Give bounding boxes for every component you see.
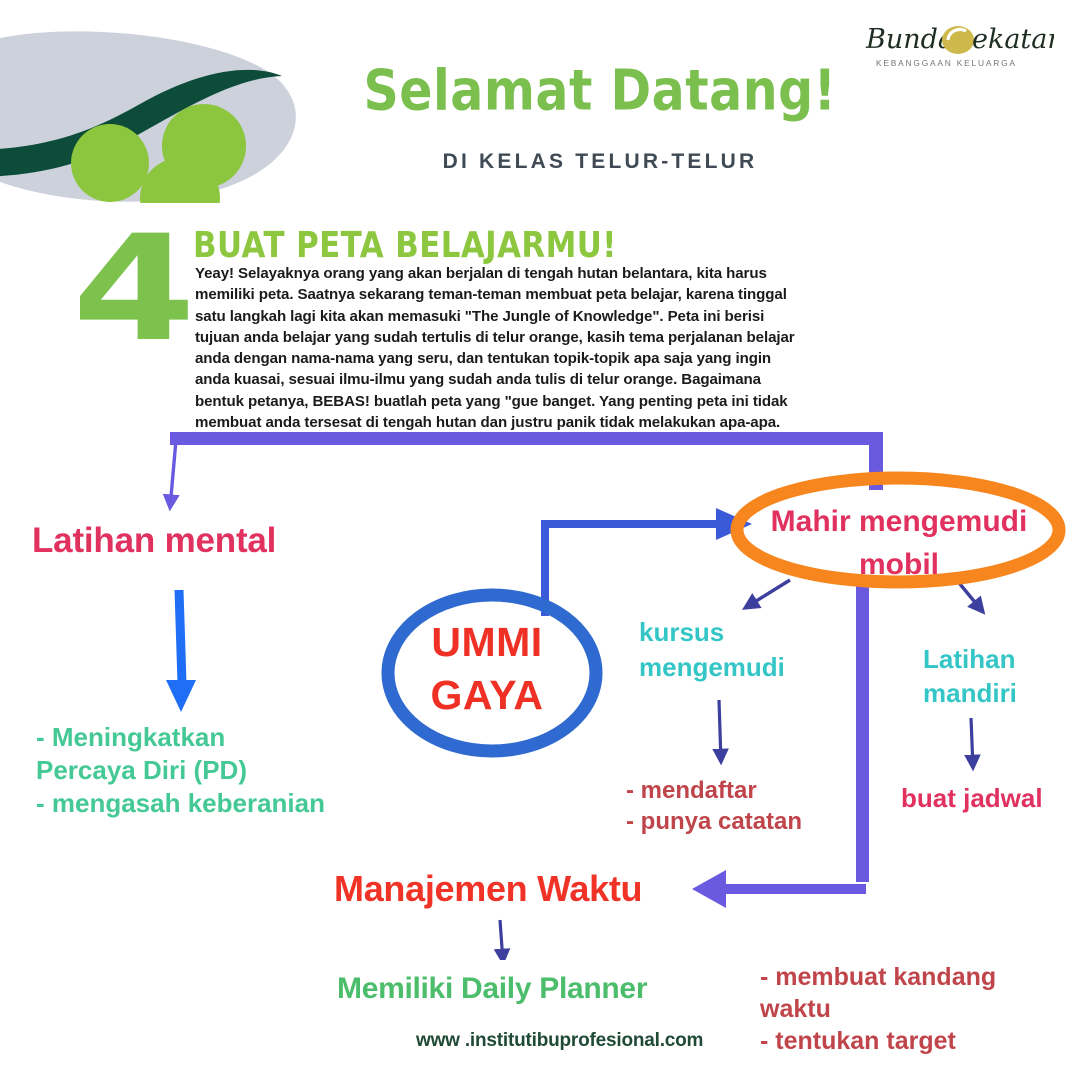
node-ummi-gaya: UMMI GAYA [413, 616, 561, 722]
step-number: 4 [72, 216, 196, 362]
connector-ummi-to-mahir [545, 508, 752, 616]
node-buat-jadwal: buat jadwal [901, 783, 1043, 814]
node-daily-planner-details: - membuat kandang waktu - tentukan targe… [760, 961, 996, 1057]
website-url: www .institutibuprofesional.com [416, 1030, 703, 1052]
section-heading: BUAT PETA BELAJARMU! [193, 225, 617, 266]
node-mahir-mengemudi-mobil: Mahir mengemudi mobil [754, 500, 1044, 586]
brand-name-part2: ekatan [972, 24, 1054, 55]
node-kursus-mengemudi: kursus mengemudi [639, 615, 785, 685]
connector-kursus-to-subs [719, 700, 721, 762]
node-latihan-mental-details: - Meningkatkan Percaya Diri (PD) - menga… [36, 721, 325, 820]
page-subtitle: DI KELAS TELUR-TELUR [200, 150, 1000, 174]
node-kursus-mengemudi-details: - mendaftar - punya catatan [626, 775, 802, 837]
brand-name-part1: Bunda [865, 24, 954, 55]
node-latihan-mental: Latihan mental [32, 521, 276, 561]
node-latihan-mandiri: Latihan mandiri [923, 642, 1017, 710]
node-manajemen-waktu: Manajemen Waktu [334, 868, 642, 910]
page-title: Selamat Datang! [200, 58, 1000, 123]
infographic-canvas: Bunda ekatan KEBANGGAAN KELUARGA Selamat… [0, 0, 1080, 1080]
connector-mandiri-to-jadwal [971, 718, 973, 768]
node-memiliki-daily-planner: Memiliki Daily Planner [337, 972, 647, 1006]
connector-manajemen-to-planner [500, 920, 503, 960]
connector-mental-to-subs [166, 590, 196, 712]
